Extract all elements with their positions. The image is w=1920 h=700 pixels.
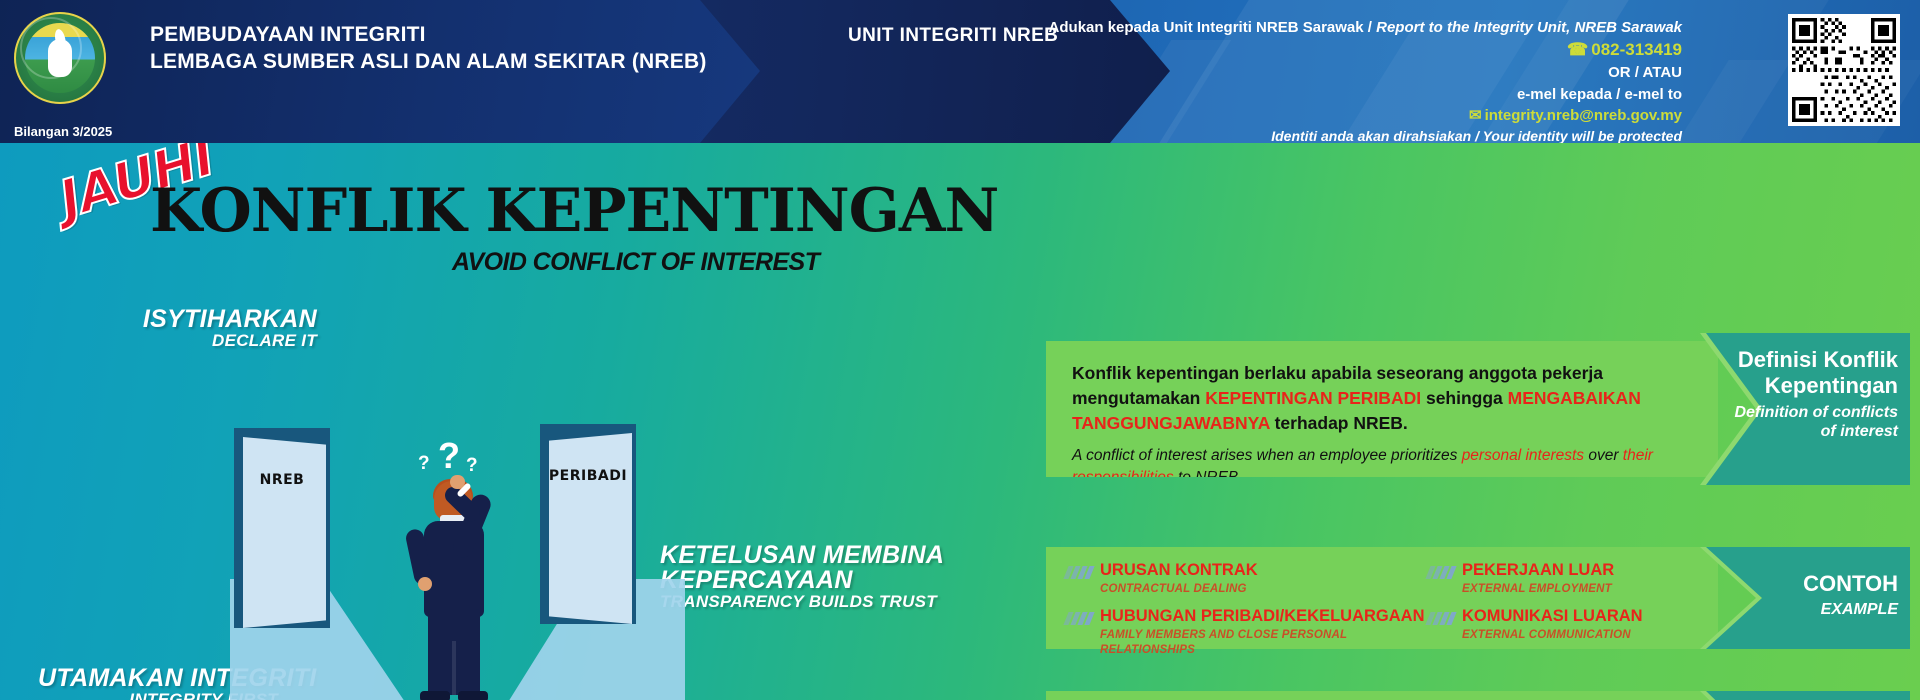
page-header: PEMBUDAYAAN INTEGRITI LEMBAGA SUMBER ASL… <box>0 0 1920 143</box>
org-line-2: LEMBAGA SUMBER ASLI DAN ALAM SEKITAR (NR… <box>150 49 707 76</box>
issue-number: Bilangan 3/2025 <box>14 124 112 139</box>
org-line-1: PEMBUDAYAAN INTEGRITI <box>150 22 707 49</box>
example-0-en: CONTRACTUAL DEALING <box>1100 582 1426 597</box>
nreb-logo-icon <box>14 12 106 104</box>
header-org-title: PEMBUDAYAAN INTEGRITI LEMBAGA SUMBER ASL… <box>150 22 707 76</box>
example-0-bm: URUSAN KONTRAK <box>1100 561 1426 580</box>
tab-action: Tindakan Action step <box>1700 691 1910 700</box>
definition-bm-part3: terhadap NREB. <box>1270 413 1408 433</box>
definition-bm-part2: sehingga <box>1421 388 1508 408</box>
poster-root: PEMBUDAYAAN INTEGRITI LEMBAGA SUMBER ASL… <box>0 0 1920 700</box>
stripes-icon <box>1066 566 1092 579</box>
list-item: URUSAN KONTRAK CONTRACTUAL DEALING <box>1066 561 1426 597</box>
page-title: KONFLIK KEPENTINGAN <box>150 176 998 246</box>
poster-body: JAUHI KONFLIK KEPENTINGAN AVOID CONFLICT… <box>0 143 1920 700</box>
tab-definition: Definisi Konflik Kepentingan Definition … <box>1700 333 1910 485</box>
example-column-right: PEKERJAAN LUAR EXTERNAL EMPLOYMENT KOMUN… <box>1428 561 1708 653</box>
label-transparency: KETELUSAN MEMBINA KEPERCAYAAN TRANSPAREN… <box>660 543 990 611</box>
example-1-bm: HUBUNGAN PERIBADI/KEKELUARGAAN <box>1100 607 1426 626</box>
definition-en-red1: personal interests <box>1462 447 1584 464</box>
door-left-label: NREB <box>234 472 330 488</box>
definition-en-part2: over <box>1584 447 1623 464</box>
list-item: KOMUNIKASI LUARAN EXTERNAL COMMUNICATION <box>1428 607 1708 643</box>
door-right-label: PERIBADI <box>540 468 636 484</box>
example-3-bm: KOMUNIKASI LUARAN <box>1462 607 1708 626</box>
list-item: PEKERJAAN LUAR EXTERNAL EMPLOYMENT <box>1428 561 1708 597</box>
example-2-bm: PEKERJAAN LUAR <box>1462 561 1708 580</box>
tab-example-en: EXAMPLE <box>1718 600 1898 619</box>
contact-or: OR / ATAU <box>1022 62 1682 83</box>
envelope-icon: ✉ <box>1469 105 1482 126</box>
definition-en-part1: A conflict of interest arises when an em… <box>1072 447 1462 464</box>
contact-report-en: Report to the Integrity Unit, NREB Saraw… <box>1376 19 1682 36</box>
definition-en-part3: to NREB. <box>1174 469 1243 486</box>
contact-email-line[interactable]: ✉integrity.nreb@nreb.gov.my <box>1022 105 1682 126</box>
contact-privacy-note: Identiti anda akan dirahsiakan / Your id… <box>1022 127 1682 143</box>
definition-body-en: A conflict of interest arises when an em… <box>1072 445 1692 490</box>
question-mark-large: ? <box>438 435 460 477</box>
list-item: HUBUNGAN PERIBADI/KEKELUARGAAN FAMILY ME… <box>1066 607 1426 658</box>
tab-definition-en: Definition of conflicts of interest <box>1718 403 1898 441</box>
tab-example-bm: CONTOH <box>1718 571 1898 597</box>
definition-card: Konflik kepentingan berlaku apabila sese… <box>1046 341 1718 477</box>
contact-email[interactable]: integrity.nreb@nreb.gov.my <box>1485 107 1682 124</box>
example-3-en: EXTERNAL COMMUNICATION <box>1462 628 1708 643</box>
label-declare-en: DECLARE IT <box>112 332 317 350</box>
businessman-figure-icon: ? ? ? <box>400 441 510 700</box>
tab-example: CONTOH EXAMPLE <box>1700 547 1910 649</box>
action-card: Laporkan sebarang kemungkinan konflik ke… <box>1046 691 1718 700</box>
example-2-en: EXTERNAL EMPLOYMENT <box>1462 582 1708 597</box>
definition-body-bm: Konflik kepentingan berlaku apabila sese… <box>1072 361 1692 436</box>
phone-icon: ☎ <box>1567 38 1588 62</box>
doors-illustration: NREB PERIBADI ? ? ? <box>240 431 670 700</box>
contact-phone[interactable]: 082-313419 <box>1591 40 1682 59</box>
stripes-icon <box>1428 612 1454 625</box>
page-subtitle: AVOID CONFLICT OF INTEREST <box>452 248 819 277</box>
example-1-en: FAMILY MEMBERS AND CLOSE PERSONAL RELATI… <box>1100 628 1426 658</box>
door-nreb: NREB <box>234 428 330 628</box>
contact-email-label: e-mel kepada / e-mel to <box>1022 84 1682 105</box>
contact-separator: / <box>1368 19 1372 36</box>
stripes-icon <box>1428 566 1454 579</box>
tab-definition-bm: Definisi Konflik Kepentingan <box>1718 347 1898 400</box>
qr-code-icon[interactable] <box>1788 14 1900 126</box>
definition-bm-red1: KEPENTINGAN PERIBADI <box>1205 388 1421 408</box>
question-mark-small-left: ? <box>418 453 430 475</box>
contact-report-bm: Adukan kepada Unit Integriti NREB Sarawa… <box>1049 19 1364 36</box>
stripes-icon <box>1066 612 1092 625</box>
label-declare: ISYTIHARKAN DECLARE IT <box>112 307 317 350</box>
label-transparency-en: TRANSPARENCY BUILDS TRUST <box>660 593 990 611</box>
question-mark-small-right: ? <box>466 455 478 477</box>
contact-phone-line[interactable]: ☎082-313419 <box>1022 38 1682 62</box>
door-peribadi: PERIBADI <box>540 424 636 624</box>
contact-block: Adukan kepada Unit Integriti NREB Sarawa… <box>1022 17 1682 143</box>
label-declare-bm: ISYTIHARKAN <box>112 307 317 332</box>
example-column-left: URUSAN KONTRAK CONTRACTUAL DEALING HUBUN… <box>1066 561 1426 668</box>
label-transparency-bm-2: KEPERCAYAAN <box>660 568 990 593</box>
contact-report-line: Adukan kepada Unit Integriti NREB Sarawa… <box>1022 17 1682 38</box>
illustration-panel: JAUHI KONFLIK KEPENTINGAN AVOID CONFLICT… <box>0 143 1040 700</box>
label-transparency-bm-1: KETELUSAN MEMBINA <box>660 543 990 568</box>
